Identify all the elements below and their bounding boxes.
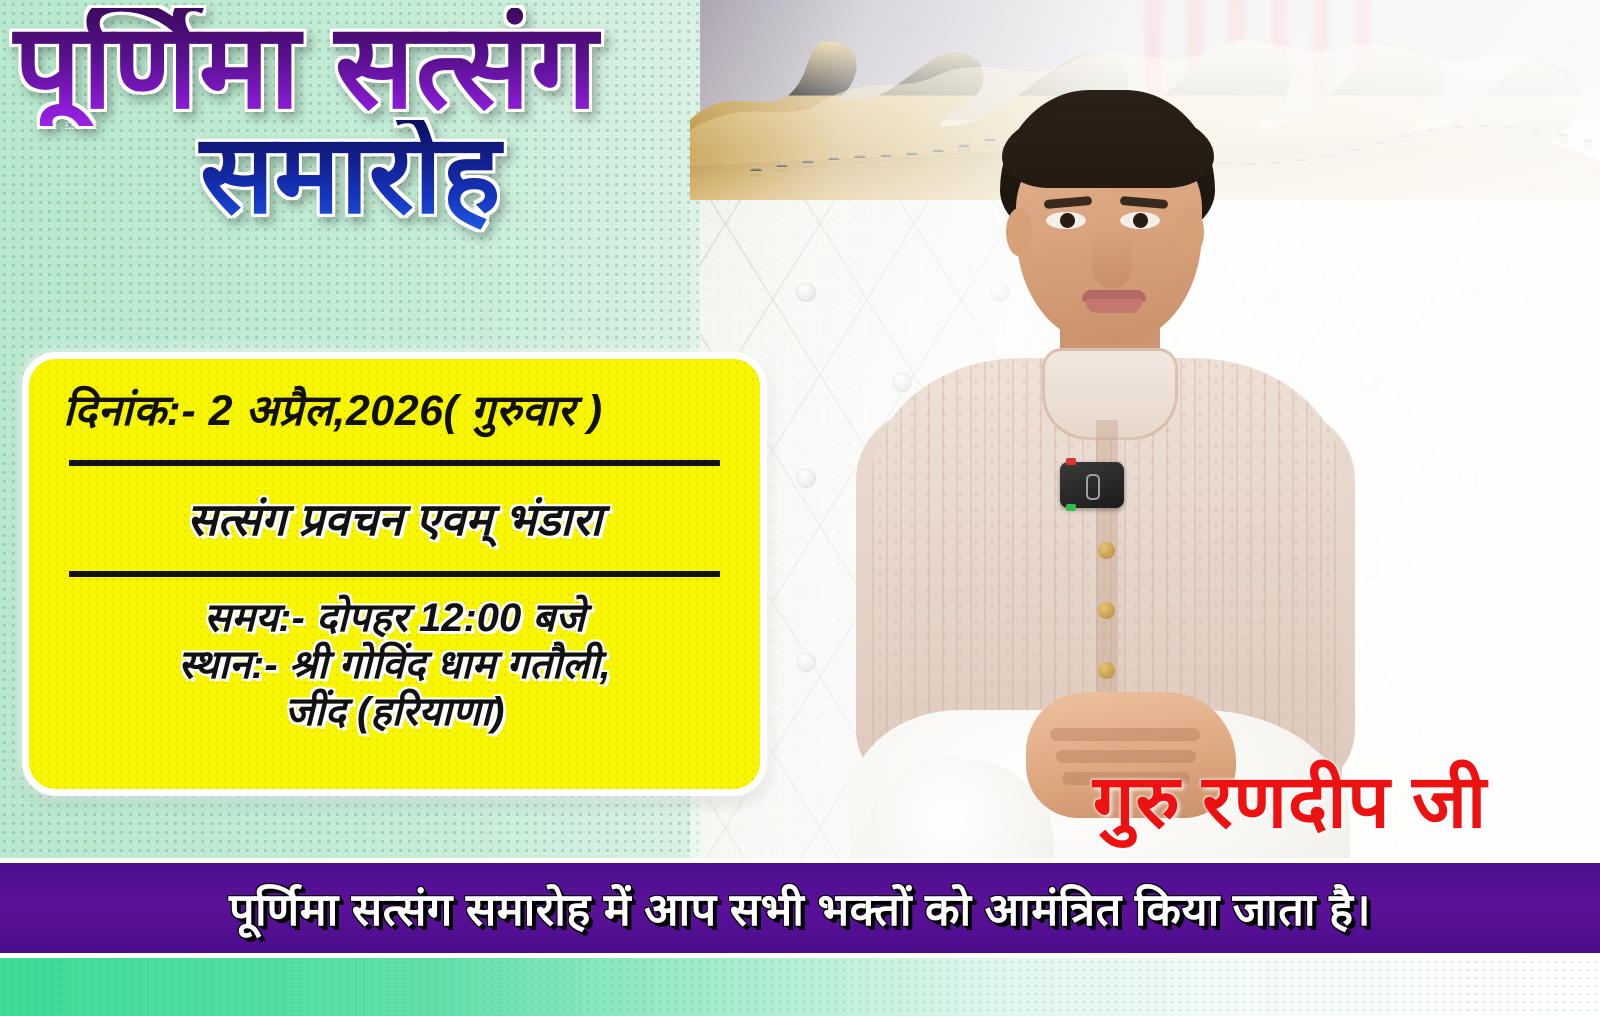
kurta-button (1098, 662, 1115, 679)
mic-green-led (1066, 504, 1076, 511)
lapel-microphone-icon (1060, 462, 1124, 508)
event-program-line: सत्संग प्रवचन एवम् भंडारा (47, 488, 742, 549)
event-venue-line-2: जींद (हरियाणा) (47, 689, 742, 736)
kurta-button (1098, 602, 1115, 619)
pupil-left (1060, 213, 1075, 228)
event-time-line: समय:- दोपहर 12:00 बजे (47, 595, 742, 642)
event-venue-line-1: स्थान:- श्री गोविंद धाम गतौली, (47, 642, 742, 689)
title-line-1: पूर्णिमा सत्संग (0, 8, 800, 126)
kurta-button (1098, 542, 1115, 559)
hair-fringe (1002, 110, 1214, 188)
pupil-right (1133, 213, 1148, 228)
ear-left (1006, 208, 1032, 256)
guru-name-label: गुरु रणदीप जी (990, 748, 1590, 849)
event-date-line: दिनांक:- 2 अप्रैल,2026( गुरुवार ) (47, 367, 742, 440)
poster-title: पूर्णिमा सत्संग समारोह (0, 8, 800, 230)
invitation-banner: पूर्णिमा सत्संग समारोह में आप सभी भक्तों… (0, 863, 1600, 953)
ear-right (1178, 208, 1204, 256)
event-info-card: दिनांक:- 2 अप्रैल,2026( गुरुवार ) सत्संग… (22, 352, 767, 796)
poster-root: पूर्णिमा सत्संग समारोह दिनांक:- 2 अप्रैल… (0, 0, 1600, 1016)
invitation-banner-wrapper: पूर्णिमा सत्संग समारोह में आप सभी भक्तों… (0, 858, 1600, 958)
bottom-gradient-strip (0, 958, 1600, 1016)
mic-red-led (1066, 458, 1076, 465)
invitation-banner-text: पूर्णिमा सत्संग समारोह में आप सभी भक्तों… (229, 878, 1371, 939)
nose (1092, 230, 1132, 288)
lower-lip (1086, 299, 1142, 313)
divider-bottom (69, 571, 720, 577)
title-line-2: समारोह (0, 120, 800, 230)
divider-top (69, 460, 720, 466)
